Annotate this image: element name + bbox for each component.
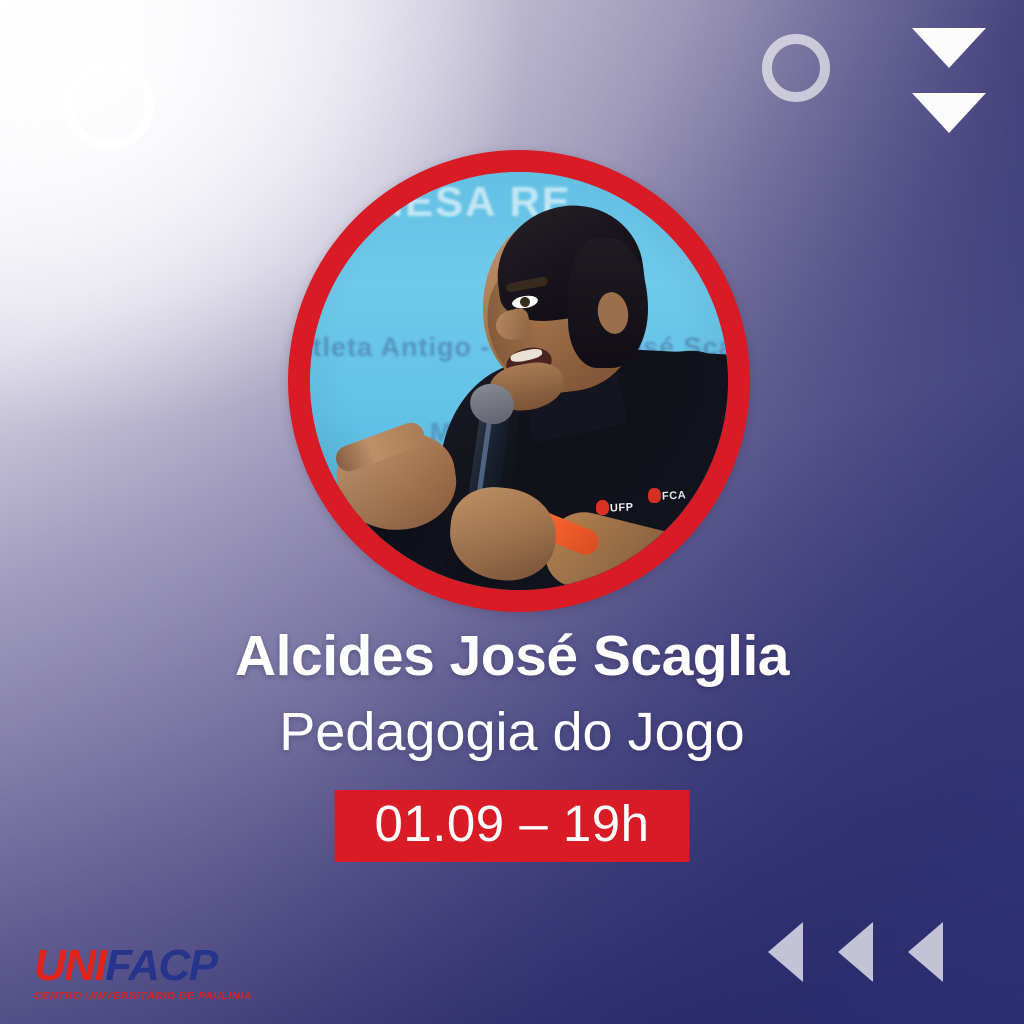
unifacp-logo-tagline: CENTRO UNIVERSITÁRIO DE PAULÍNIA [34,990,252,1002]
speaker-name-heading: Alcides José Scaglia [0,628,1024,685]
logo-uni-text: UNI [34,941,105,990]
unifacp-logo-wordmark: UNIFACP [34,944,252,988]
triangle-down-icon-2 [912,93,986,133]
logo-facp-text: FACP [105,941,216,990]
talk-title-subheading: Pedagogia do Jogo [0,704,1024,761]
photo-vignette [310,172,728,590]
circle-outline-icon-top-left [64,60,154,150]
date-time-banner: 01.09 – 19h [335,790,690,862]
portrait-red-ring: MESA RE Atleta Antigo - Alcides José Sca… [288,150,750,612]
event-poster: MESA RE Atleta Antigo - Alcides José Sca… [0,0,1024,1024]
triangle-down-icon-1 [912,28,986,68]
triangle-left-icon-1 [768,922,803,982]
date-time-label: 01.09 – 19h [375,797,650,851]
triangle-left-icon-3 [908,922,943,982]
circle-outline-icon-top-right [762,34,830,102]
triangle-left-icon-2 [838,922,873,982]
unifacp-logo: UNIFACP CENTRO UNIVERSITÁRIO DE PAULÍNIA [34,944,252,1002]
speaker-portrait-photo: MESA RE Atleta Antigo - Alcides José Sca… [310,172,728,590]
